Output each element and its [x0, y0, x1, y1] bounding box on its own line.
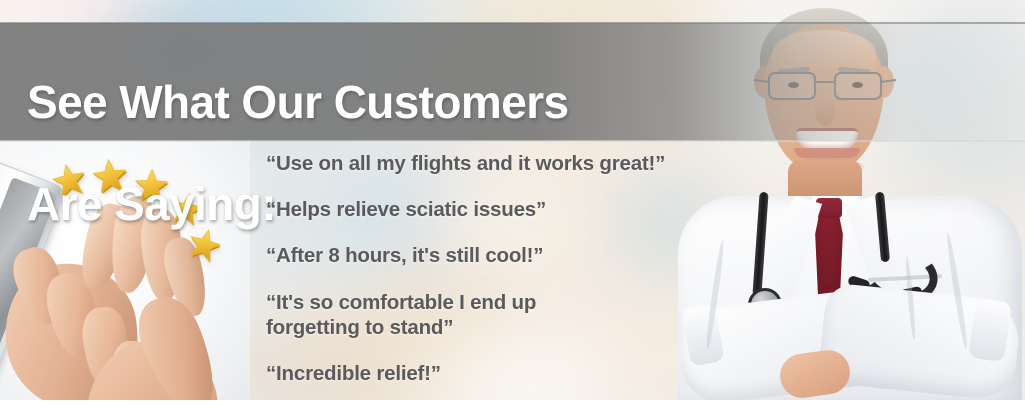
testimonial-quote: “Incredible relief!” [266, 362, 736, 386]
testimonial-banner: See What Our Customers Are Saying: “Use … [0, 0, 1025, 420]
doctor-lower-lip [794, 148, 860, 158]
bottom-white-strip [0, 400, 1025, 420]
testimonial-quote: “After 8 hours, it's still cool!” [266, 244, 736, 268]
testimonial-quote: “Helps relieve sciatic issues” [266, 198, 736, 222]
testimonial-quote: “Use on all my flights and it works grea… [266, 152, 736, 176]
testimonial-quote: “It's so comfortable I end up forgetting… [266, 290, 736, 340]
headline-line-1: See What Our Customers [27, 76, 727, 128]
testimonial-list: “Use on all my flights and it works grea… [266, 152, 736, 408]
stethoscope-tube [752, 192, 768, 296]
